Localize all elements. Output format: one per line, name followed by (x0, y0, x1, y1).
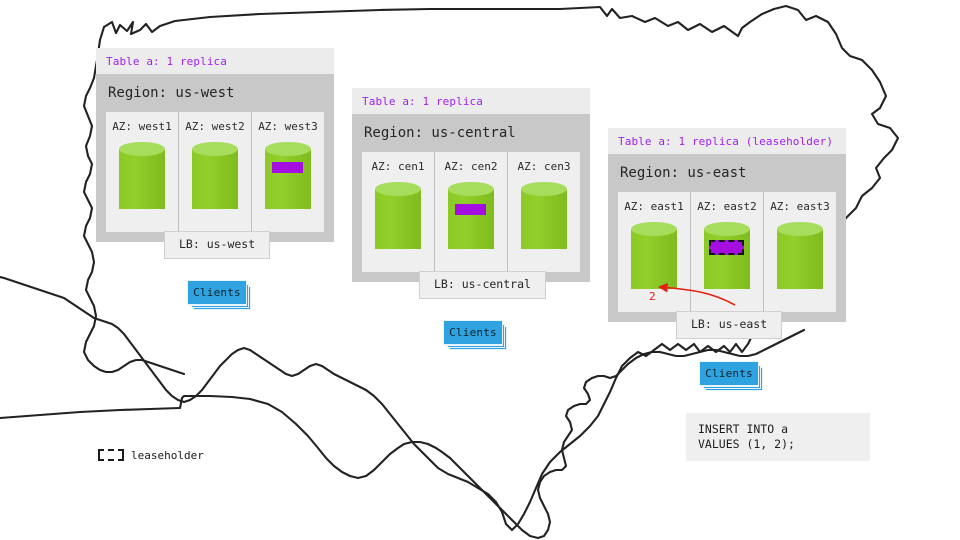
az-label-east2: AZ: east2 (697, 201, 757, 212)
region-header-us-central: Table a: 1 replica (352, 88, 590, 114)
region-body-us-central: Region: us-central AZ: cen1 AZ: cen2 (352, 114, 590, 282)
az-label-east1: AZ: east1 (624, 201, 684, 212)
load-balancer-us-west[interactable]: LB: us-west (164, 231, 270, 259)
cylinder-body (631, 229, 677, 289)
region-title-us-west: Region: us-west (106, 74, 324, 112)
region-panel-us-east: Table a: 1 replica (leaseholder) Region:… (608, 128, 846, 322)
az-cell-east3[interactable]: AZ: east3 (763, 192, 836, 312)
az-label-east3: AZ: east3 (770, 201, 830, 212)
node-cylinder-west1[interactable] (119, 142, 165, 216)
cylinder-body (521, 189, 567, 249)
clients-stack-us-east[interactable]: Clients (699, 361, 767, 394)
load-balancer-us-central[interactable]: LB: us-central (419, 271, 546, 299)
az-cell-west3[interactable]: AZ: west3 (251, 112, 324, 232)
cylinder-body (192, 149, 238, 209)
cylinder-top (631, 222, 677, 236)
node-cylinder-east3[interactable] (777, 222, 823, 296)
clients-button-us-west[interactable]: Clients (187, 280, 247, 305)
load-balancer-us-east[interactable]: LB: us-east (676, 311, 782, 339)
node-cylinder-east2[interactable] (704, 222, 750, 296)
cylinder-top (777, 222, 823, 236)
region-panel-us-west: Table a: 1 replica Region: us-west AZ: w… (96, 48, 334, 242)
diagram-canvas: Table a: 1 replica Region: us-west AZ: w… (0, 0, 960, 540)
az-label-west1: AZ: west1 (112, 121, 172, 132)
clients-stack-us-west[interactable]: Clients (187, 280, 255, 313)
cylinder-top (375, 182, 421, 196)
us-map-gulf-coast (0, 330, 804, 538)
clients-button-us-east[interactable]: Clients (699, 361, 759, 386)
cylinder-body (448, 189, 494, 249)
az-cell-cen1[interactable]: AZ: cen1 (362, 152, 434, 272)
cylinder-top (119, 142, 165, 156)
az-strip-us-central: AZ: cen1 AZ: cen2 (362, 152, 580, 272)
cylinder-top (448, 182, 494, 196)
region-panel-us-central: Table a: 1 replica Region: us-central AZ… (352, 88, 590, 282)
cylinder-top (521, 182, 567, 196)
node-cylinder-cen2[interactable] (448, 182, 494, 256)
annotation-number-2: 2 (649, 291, 656, 302)
replica-range-west3 (272, 162, 303, 173)
az-label-cen3: AZ: cen3 (518, 161, 571, 172)
cylinder-body (119, 149, 165, 209)
az-label-west2: AZ: west2 (185, 121, 245, 132)
dashed-rect-icon (98, 449, 124, 461)
az-label-west3: AZ: west3 (258, 121, 318, 132)
clients-stack-us-central[interactable]: Clients (443, 320, 511, 353)
node-cylinder-east1[interactable] (631, 222, 677, 296)
node-cylinder-west3[interactable] (265, 142, 311, 216)
az-cell-cen2[interactable]: AZ: cen2 (434, 152, 507, 272)
cylinder-body (704, 229, 750, 289)
region-header-us-west: Table a: 1 replica (96, 48, 334, 74)
cylinder-body (375, 189, 421, 249)
region-body-us-east: Region: us-east AZ: east1 AZ: east2 (608, 154, 846, 322)
az-cell-east2[interactable]: AZ: east2 (690, 192, 763, 312)
az-label-cen2: AZ: cen2 (445, 161, 498, 172)
sql-statement-note: INSERT INTO a VALUES (1, 2); (686, 413, 870, 461)
replica-range-east2-leaseholder (709, 240, 744, 255)
az-label-cen1: AZ: cen1 (372, 161, 425, 172)
cylinder-body (777, 229, 823, 289)
legend-label: leaseholder (131, 450, 204, 461)
legend-leaseholder: leaseholder (98, 449, 204, 461)
node-cylinder-cen3[interactable] (521, 182, 567, 256)
region-body-us-west: Region: us-west AZ: west1 AZ: west2 (96, 74, 334, 242)
node-cylinder-cen1[interactable] (375, 182, 421, 256)
cylinder-top (704, 222, 750, 236)
region-header-us-east: Table a: 1 replica (leaseholder) (608, 128, 846, 154)
az-strip-us-west: AZ: west1 AZ: west2 (106, 112, 324, 232)
region-title-us-central: Region: us-central (362, 114, 580, 152)
cylinder-top (265, 142, 311, 156)
replica-range-cen2 (455, 204, 486, 215)
az-cell-west1[interactable]: AZ: west1 (106, 112, 178, 232)
node-cylinder-west2[interactable] (192, 142, 238, 216)
region-title-us-east: Region: us-east (618, 154, 836, 192)
cylinder-body (265, 149, 311, 209)
clients-button-us-central[interactable]: Clients (443, 320, 503, 345)
cylinder-top (192, 142, 238, 156)
az-cell-west2[interactable]: AZ: west2 (178, 112, 251, 232)
az-cell-cen3[interactable]: AZ: cen3 (507, 152, 580, 272)
